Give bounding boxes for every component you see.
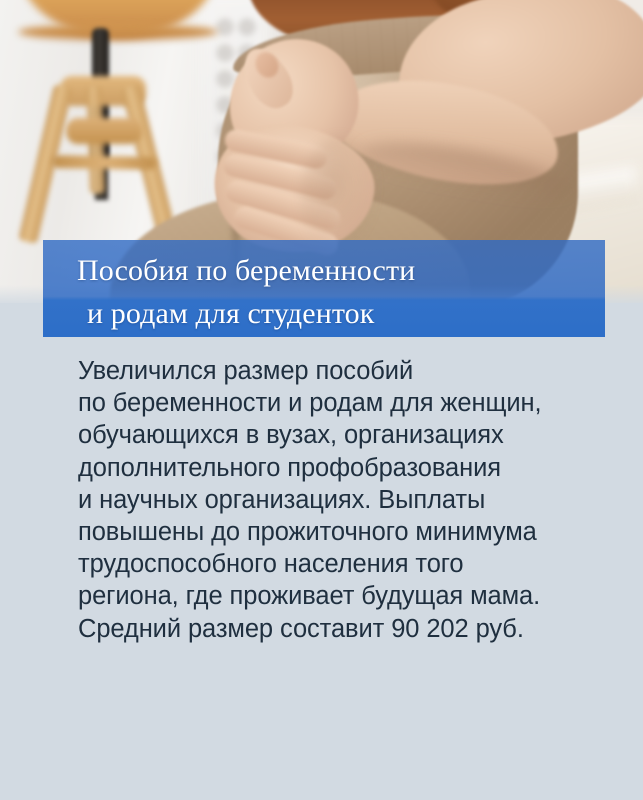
body-line-7: трудоспособного населения того	[78, 548, 618, 580]
body-line-8: региона, где проживает будущая мама.	[78, 580, 618, 612]
stool-brace	[52, 155, 156, 170]
body-line-1: Увеличился размер пособий	[78, 355, 618, 387]
body-line-4: дополнительного профобразования	[78, 452, 618, 484]
title-line-2: и родам для студенток	[77, 292, 605, 335]
body-line-5: и научных организациях. Выплаты	[78, 484, 618, 516]
poster: Пособия по беременности и родам для студ…	[0, 0, 643, 800]
title-banner: Пособия по беременности и родам для студ…	[43, 240, 605, 337]
stool-hub-lower	[66, 118, 142, 144]
body-text-block: Увеличился размер пособий по беременност…	[78, 355, 618, 645]
knuckle-shading	[300, 136, 380, 256]
title-line-1: Пособия по беременности	[77, 249, 605, 292]
body-line-9: Средний размер составит 90 202 руб.	[78, 613, 618, 645]
body-line-6: повышены до прожиточного минимума	[78, 516, 618, 548]
lamp-shade-rim	[18, 24, 218, 40]
body-line-2: по беременности и родам для женщин,	[78, 387, 618, 419]
body-line-3: обучающихся в вузах, организациях	[78, 419, 618, 451]
